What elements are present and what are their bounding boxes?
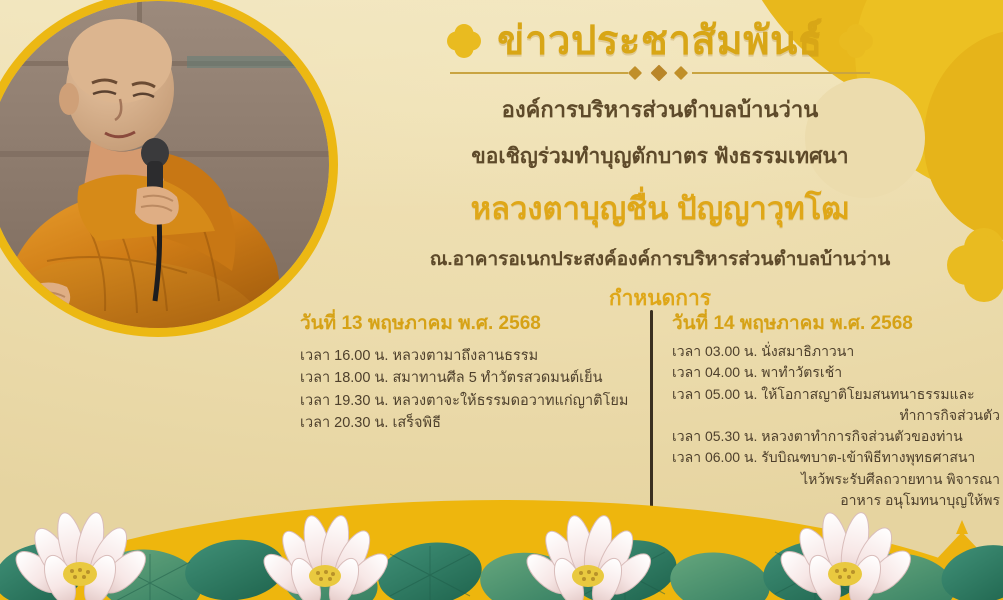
day2-event: เวลา 05.00 น. ให้โอกาสญาติโยมสนทนาธรรมแล… bbox=[672, 384, 1000, 405]
monk-name: หลวงตาบุญชื่น ปัญญาวุทโฒ bbox=[330, 183, 990, 233]
day2-event-cont: ทำการกิจส่วนตัว bbox=[672, 405, 1000, 426]
day1-title: วันที่ 13 พฤษภาคม พ.ศ. 2568 bbox=[300, 308, 632, 338]
poster-header: ข่าวประชาสัมพันธ์ องค์การบริหารส่วนตำบลบ… bbox=[330, 18, 990, 315]
poster-canvas: ข่าวประชาสัมพันธ์ องค์การบริหารส่วนตำบลบ… bbox=[0, 0, 1003, 600]
quatrefoil-right-icon bbox=[839, 24, 873, 58]
day2-event: เวลา 04.00 น. พาทำวัตรเช้า bbox=[672, 362, 1000, 383]
organization-name: องค์การบริหารส่วนตำบลบ้านว่าน bbox=[330, 92, 990, 127]
day1-event: เวลา 20.30 น. เสร็จพิธี bbox=[300, 412, 632, 434]
quatrefoil-left-icon bbox=[447, 24, 481, 58]
day1-event: เวลา 18.00 น. สมาทานศีล 5 ทำวัตรสวดมนต์เ… bbox=[300, 367, 632, 389]
bottom-lotus-band bbox=[0, 470, 1003, 600]
day2-event: เวลา 06.00 น. รับบิณฑบาต-เข้าพิธีทางพุทธ… bbox=[672, 447, 1000, 468]
day2-event: เวลา 03.00 น. นั่งสมาธิภาวนา bbox=[672, 341, 1000, 362]
title-underline-ornament bbox=[450, 66, 870, 80]
monk-photo bbox=[0, 0, 338, 337]
title-row: ข่าวประชาสัมพันธ์ bbox=[330, 18, 990, 64]
page-title: ข่าวประชาสัมพันธ์ bbox=[497, 18, 823, 64]
day1-event: เวลา 16.00 น. หลวงตามาถึงลานธรรม bbox=[300, 345, 632, 367]
day2-event: เวลา 05.30 น. หลวงตาทำการกิจส่วนตัวของท่… bbox=[672, 426, 1000, 447]
day1-event: เวลา 19.30 น. หลวงตาจะให้ธรรมดอวาทแก่ญาต… bbox=[300, 390, 632, 412]
lotus-illustration bbox=[0, 470, 1003, 600]
day2-title: วันที่ 14 พฤษภาคม พ.ศ. 2568 bbox=[672, 308, 1000, 338]
invitation-line: ขอเชิญร่วมทำบุญตักบาตร ฟังธรรมเทศนา bbox=[330, 140, 990, 173]
venue-line: ณ.อาคารอเนกประสงค์องค์การบริหารส่วนตำบลบ… bbox=[330, 244, 990, 274]
